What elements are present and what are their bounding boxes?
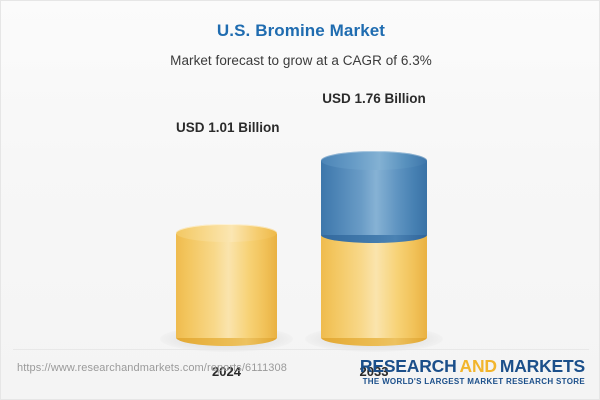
chart-card: U.S. Bromine Market Market forecast to g… <box>0 0 600 400</box>
cylinder-body <box>176 234 277 338</box>
cylinder-top-cap <box>321 151 427 170</box>
logo-wordmark: RESEARCHANDMARKETS <box>360 357 585 376</box>
footer-divider <box>13 349 589 350</box>
bar-group-2033[interactable]: USD 1.76 Billion 2033 <box>321 121 427 346</box>
plot-area: USD 1.01 Billion 2024 USD 1.76 Billion <box>1 1 600 346</box>
report-url[interactable]: https://www.researchandmarkets.com/repor… <box>17 362 287 374</box>
cylinder-2024-gold <box>176 224 277 346</box>
bar-group-2024[interactable]: USD 1.01 Billion 2024 <box>176 146 277 346</box>
bar-value-label-2033: USD 1.76 Billion <box>321 91 427 106</box>
logo-word-research: RESEARCH <box>360 356 457 376</box>
logo-word-markets: MARKETS <box>500 356 585 376</box>
research-and-markets-logo[interactable]: RESEARCHANDMARKETS THE WORLD'S LARGEST M… <box>360 357 585 387</box>
cylinder-2033-blue-segment <box>321 151 427 243</box>
cylinder-body <box>321 160 427 235</box>
cylinder-2033-gold-segment <box>321 234 427 346</box>
cylinder-body <box>321 234 427 338</box>
logo-tagline: THE WORLD'S LARGEST MARKET RESEARCH STOR… <box>360 376 585 387</box>
cylinder-top-cap <box>176 224 277 242</box>
bar-value-label-2024: USD 1.01 Billion <box>176 120 277 135</box>
logo-word-and: AND <box>460 356 497 376</box>
